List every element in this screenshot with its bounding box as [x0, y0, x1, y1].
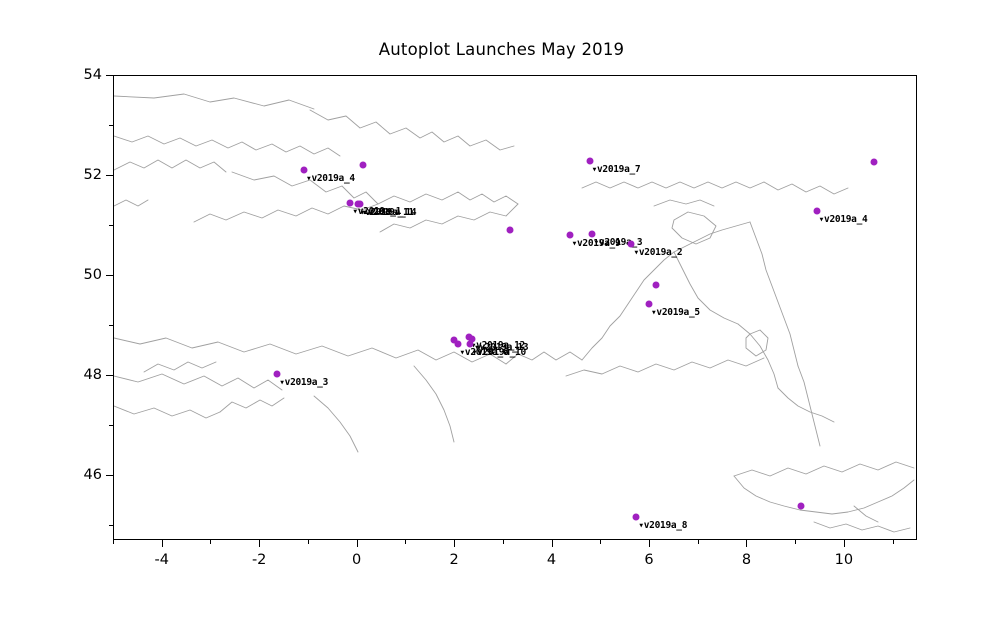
- scatter-point: [506, 226, 513, 233]
- x-tick-label: 10: [835, 552, 853, 568]
- figure-canvas: Autoplot Launches May 2019: [0, 0, 1003, 633]
- x-tick: [405, 540, 406, 544]
- chart-title: Autoplot Launches May 2019: [0, 40, 1003, 59]
- x-tick: [162, 540, 163, 547]
- point-label: ▾v2019a_4: [819, 214, 868, 225]
- point-label: ▾v2019a_7: [592, 164, 641, 175]
- point-label: ▾v2019a_4: [306, 173, 355, 184]
- x-tick: [308, 540, 309, 544]
- point-label: ▾v2019a_2: [633, 247, 682, 258]
- y-tick: [109, 525, 113, 526]
- scatter-point: [652, 282, 659, 289]
- y-tick: [106, 175, 113, 176]
- y-tick-label: 46: [62, 467, 102, 483]
- y-tick: [106, 475, 113, 476]
- scatter-points-layer: ▾v2019a_4▾v2019a_1▾v2019a_11▾v2019a_14▾v…: [114, 76, 917, 540]
- point-label: ▾v2019a_8: [638, 520, 687, 531]
- x-tick: [357, 540, 358, 547]
- x-tick: [552, 540, 553, 547]
- point-label: ▾v2019a_14: [362, 207, 416, 218]
- x-tick-label: 6: [644, 552, 653, 568]
- x-tick: [454, 540, 455, 547]
- y-tick: [109, 125, 113, 126]
- x-tick: [210, 540, 211, 544]
- point-label: ▾v2019a_5: [651, 307, 700, 318]
- x-tick-label: 0: [352, 552, 361, 568]
- x-tick-label: -4: [154, 552, 168, 568]
- x-tick-label: 8: [742, 552, 751, 568]
- scatter-point: [360, 162, 367, 169]
- y-tick: [109, 225, 113, 226]
- y-tick-label: 50: [62, 267, 102, 283]
- x-tick: [649, 540, 650, 547]
- map-axes: ▾v2019a_4▾v2019a_1▾v2019a_11▾v2019a_14▾v…: [113, 75, 917, 540]
- scatter-point: [871, 159, 878, 166]
- x-tick-label: 4: [547, 552, 556, 568]
- x-tick: [113, 540, 114, 544]
- x-tick: [844, 540, 845, 547]
- x-tick: [503, 540, 504, 544]
- x-tick: [795, 540, 796, 544]
- x-tick: [698, 540, 699, 544]
- y-tick-label: 52: [62, 167, 102, 183]
- y-tick: [109, 425, 113, 426]
- scatter-point: [798, 503, 805, 510]
- y-tick: [106, 75, 113, 76]
- x-tick-label: -2: [252, 552, 266, 568]
- x-tick: [893, 540, 894, 544]
- x-tick: [259, 540, 260, 547]
- x-tick-label: 2: [449, 552, 458, 568]
- y-tick-label: 48: [62, 367, 102, 383]
- y-tick: [106, 275, 113, 276]
- point-label: ▾v2019a_10: [472, 347, 526, 358]
- x-tick: [600, 540, 601, 544]
- point-label: ▾v2019a_3: [279, 377, 328, 388]
- y-tick-label: 54: [62, 67, 102, 83]
- y-tick: [109, 325, 113, 326]
- x-tick: [746, 540, 747, 547]
- y-tick: [106, 375, 113, 376]
